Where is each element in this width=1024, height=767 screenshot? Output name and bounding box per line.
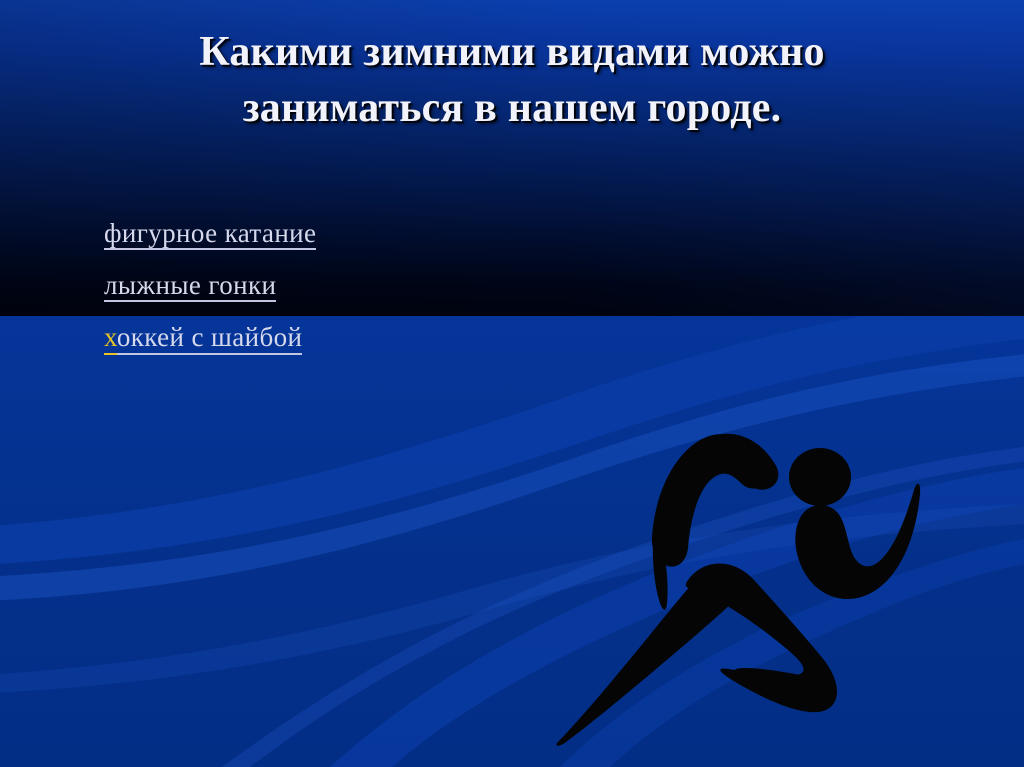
slide-background-lower-band (0, 316, 1024, 767)
list-item: фигурное катание (104, 212, 804, 264)
link-cross-country-skiing[interactable]: лыжные гонки (104, 272, 276, 302)
title-line-1: Какими зимними видами можно (60, 24, 964, 80)
list-item: хоккей с шайбой (104, 316, 804, 368)
link-ice-hockey-first-letter: х (104, 322, 117, 355)
link-ice-hockey-remainder: оккей с шайбой (117, 322, 303, 355)
list-item: лыжные гонки (104, 264, 804, 316)
link-ice-hockey[interactable]: хоккей с шайбой (104, 324, 302, 352)
slide-title: Какими зимними видами можно заниматься в… (0, 24, 1024, 137)
hyperlink-list: фигурное катание лыжные гонки хоккей с ш… (104, 212, 804, 368)
title-line-2: заниматься в нашем городе. (60, 80, 964, 136)
link-figure-skating[interactable]: фигурное катание (104, 220, 316, 250)
presentation-slide: Какими зимними видами можно заниматься в… (0, 0, 1024, 767)
